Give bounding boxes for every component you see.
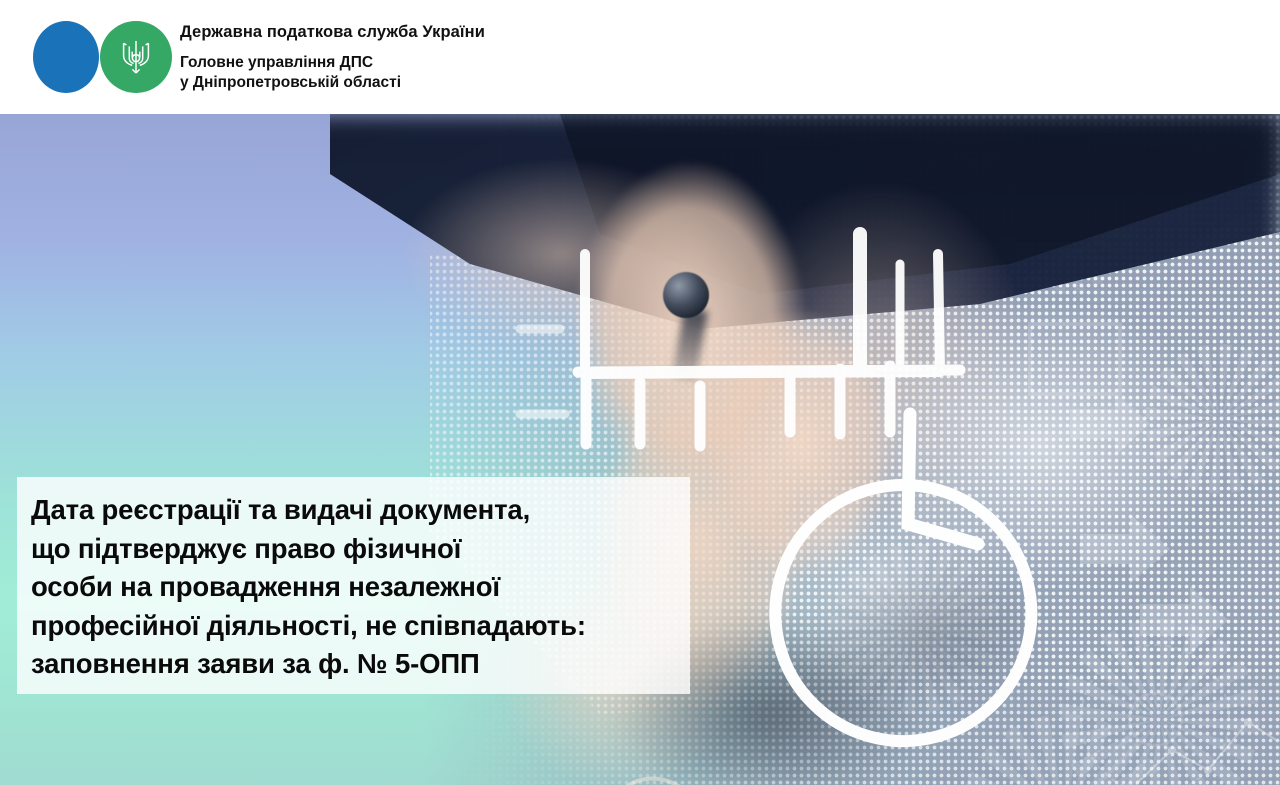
headline-line-3: особи на провадження незалежної	[31, 568, 672, 607]
hero-banner: $	[0, 114, 1280, 785]
headline-line-5: заповнення заяви за ф. № 5-ОПП	[31, 645, 672, 684]
ukraine-trident-emblem-icon	[119, 37, 153, 77]
page-root: Державна податкова служба України Головн…	[0, 0, 1280, 785]
headline-card: Дата реєстрації та видачі документа, що …	[17, 477, 690, 694]
dps-logo[interactable]	[33, 21, 173, 93]
department-line-1: Головне управління ДПС	[180, 53, 485, 73]
header-brand[interactable]: Державна податкова служба України Головн…	[33, 21, 485, 93]
logo-blue-circle-icon	[33, 21, 99, 93]
logo-green-circle-icon	[100, 21, 172, 93]
headline-line-4: професійної діяльності, не співпадають:	[31, 607, 672, 646]
department-name: Головне управління ДПС у Дніпропетровськ…	[180, 53, 485, 93]
department-line-2: у Дніпропетровській області	[180, 73, 485, 93]
organization-title: Державна податкова служба України	[180, 23, 485, 42]
headline-line-1: Дата реєстрації та видачі документа,	[31, 491, 672, 530]
organization-titles: Державна податкова служба України Головн…	[173, 21, 485, 93]
site-header: Державна податкова служба України Головн…	[0, 0, 1280, 114]
headline-line-2: що підтверджує право фізичної	[31, 530, 672, 569]
